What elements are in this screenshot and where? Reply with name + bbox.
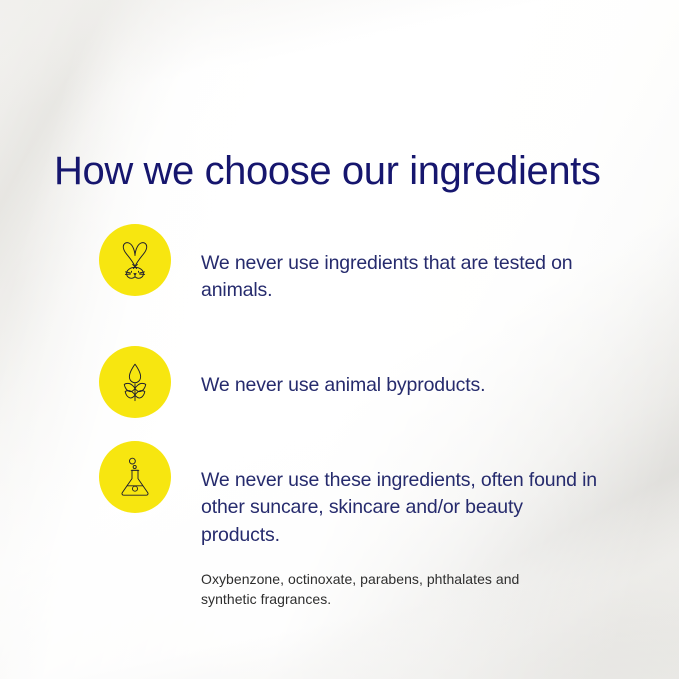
plant-leaf-droplet-icon <box>113 360 157 404</box>
bunny-heart-ears-icon <box>112 237 158 283</box>
list-item-text: We never use animal byproducts. <box>201 372 485 400</box>
icon-badge-cruelty-free <box>99 224 171 296</box>
list-item-text: We never use ingredients that are tested… <box>201 250 601 305</box>
list-item-note: Oxybenzone, octinoxate, parabens, phthal… <box>201 569 571 610</box>
ingredients-infographic: How we choose our ingredients <box>0 0 679 679</box>
icon-badge-clean-chemistry <box>99 441 171 513</box>
erlenmeyer-flask-icon <box>113 455 157 499</box>
ingredient-principles-list: We never use ingredients that are tested… <box>99 224 629 624</box>
list-item-body: We never use these ingredients, often fo… <box>171 441 601 624</box>
content-area: How we choose our ingredients <box>0 0 679 679</box>
page-title: How we choose our ingredients <box>54 149 601 194</box>
icon-badge-plant-based <box>99 346 171 418</box>
list-item-body: We never use animal byproducts. <box>171 346 485 419</box>
list-item-body: We never use ingredients that are tested… <box>171 224 601 324</box>
list-item: We never use these ingredients, often fo… <box>99 441 629 624</box>
list-item: We never use ingredients that are tested… <box>99 224 629 324</box>
list-item: We never use animal byproducts. <box>99 346 629 419</box>
list-item-text: We never use these ingredients, often fo… <box>201 467 601 550</box>
